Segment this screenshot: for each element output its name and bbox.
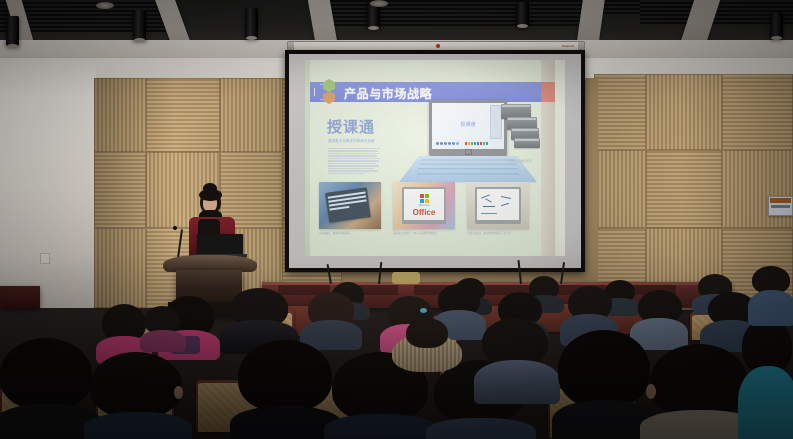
- thumb-tablet-photo: [319, 182, 381, 229]
- lecture-hall-photo: Redleaf 产品与市场战略 授课通 课堂数字化教学的革: [0, 0, 793, 439]
- presenter-hair: [199, 189, 222, 201]
- thumb-whiteboard-caption: 可随手批注，板书随时保存下来分享: [467, 231, 512, 235]
- slide-heading: 授课通: [327, 116, 375, 137]
- chair: [548, 386, 636, 438]
- chair: [660, 360, 740, 408]
- podium-microphone-head: [173, 226, 177, 230]
- wall-left-plaster: [0, 58, 96, 308]
- front-desk-row-left: [0, 286, 40, 308]
- thumb-whiteboard: [467, 182, 529, 229]
- projection-screen-frame: 产品与市场战略 授课通 课堂数字化教学的革命性创新 授课通: [285, 50, 585, 272]
- slide-subheading: 课堂数字化教学的革命性创新: [328, 138, 375, 143]
- slide-right-accent-stripe-2: [559, 60, 565, 256]
- slide-hexagon-logo: [314, 78, 340, 106]
- ceiling-spotlight-2: [133, 10, 146, 40]
- chair: [528, 304, 582, 332]
- acoustic-panel-wall-right: [594, 74, 793, 310]
- roller-brand-label: Redleaf: [562, 44, 574, 48]
- slide-device-note: 支持多点触控笔写: [508, 159, 532, 163]
- ceiling-spotlight-3: [245, 8, 258, 38]
- chair: [96, 376, 174, 426]
- chair: [136, 318, 194, 348]
- ceiling-spotlight-5: [516, 2, 529, 26]
- thumb-tablet-photo-caption: 多点触控，精彩内容呈现: [319, 231, 350, 235]
- front-desk-row: [262, 282, 732, 308]
- audience-member: [742, 318, 793, 439]
- thumb-office-logo-caption: 兼容办公软件，Office无缝整合教案: [393, 231, 437, 235]
- tablet-toolbar-dots: [436, 142, 459, 145]
- chair: [440, 366, 510, 408]
- desk-item-folder: [392, 272, 420, 284]
- presentation-slide: 产品与市场战略 授课通 课堂数字化教学的革命性创新 授课通: [305, 60, 565, 256]
- chair: [238, 310, 294, 338]
- podium-laptop-screen: [197, 234, 243, 255]
- slide-device-stack-4: [514, 138, 540, 148]
- ceiling-spotlight-1: [6, 16, 19, 46]
- chair: [400, 316, 458, 344]
- ceiling-grille-mid: [600, 0, 640, 14]
- slide-tablet-device: 授课通: [429, 100, 507, 156]
- chair: [196, 380, 280, 432]
- slide-title: 产品与市场战略: [344, 85, 432, 102]
- projection-screen-surface: 产品与市场战略 授课通 课堂数字化教学的革命性创新 授课通: [289, 54, 581, 268]
- chair: [300, 382, 386, 438]
- thumb-office-logo: Microsoft Office: [393, 182, 455, 229]
- tablet-screen: 授课通: [432, 103, 504, 149]
- chair: [286, 306, 342, 336]
- chair: [450, 306, 506, 334]
- office-sublabel: Microsoft: [393, 204, 455, 207]
- chair: [0, 388, 62, 438]
- slide-body-text: [328, 148, 380, 175]
- wall-outlet: [40, 253, 50, 264]
- ceiling-recessed-light-1: [96, 2, 114, 9]
- chair: [690, 312, 746, 340]
- slide-title-accent-block: [541, 82, 555, 102]
- office-label: Office: [393, 208, 455, 217]
- roller-indicator-dot: [436, 44, 440, 48]
- hair-tie: [420, 308, 427, 313]
- tablet-color-ribbon: [465, 142, 488, 145]
- ceiling-recessed-light-2: [370, 0, 388, 7]
- ceiling-spotlight-6: [770, 12, 783, 38]
- wall-notice-sign: [768, 196, 793, 216]
- chair: [608, 306, 662, 334]
- office-logo-icon: [420, 194, 429, 203]
